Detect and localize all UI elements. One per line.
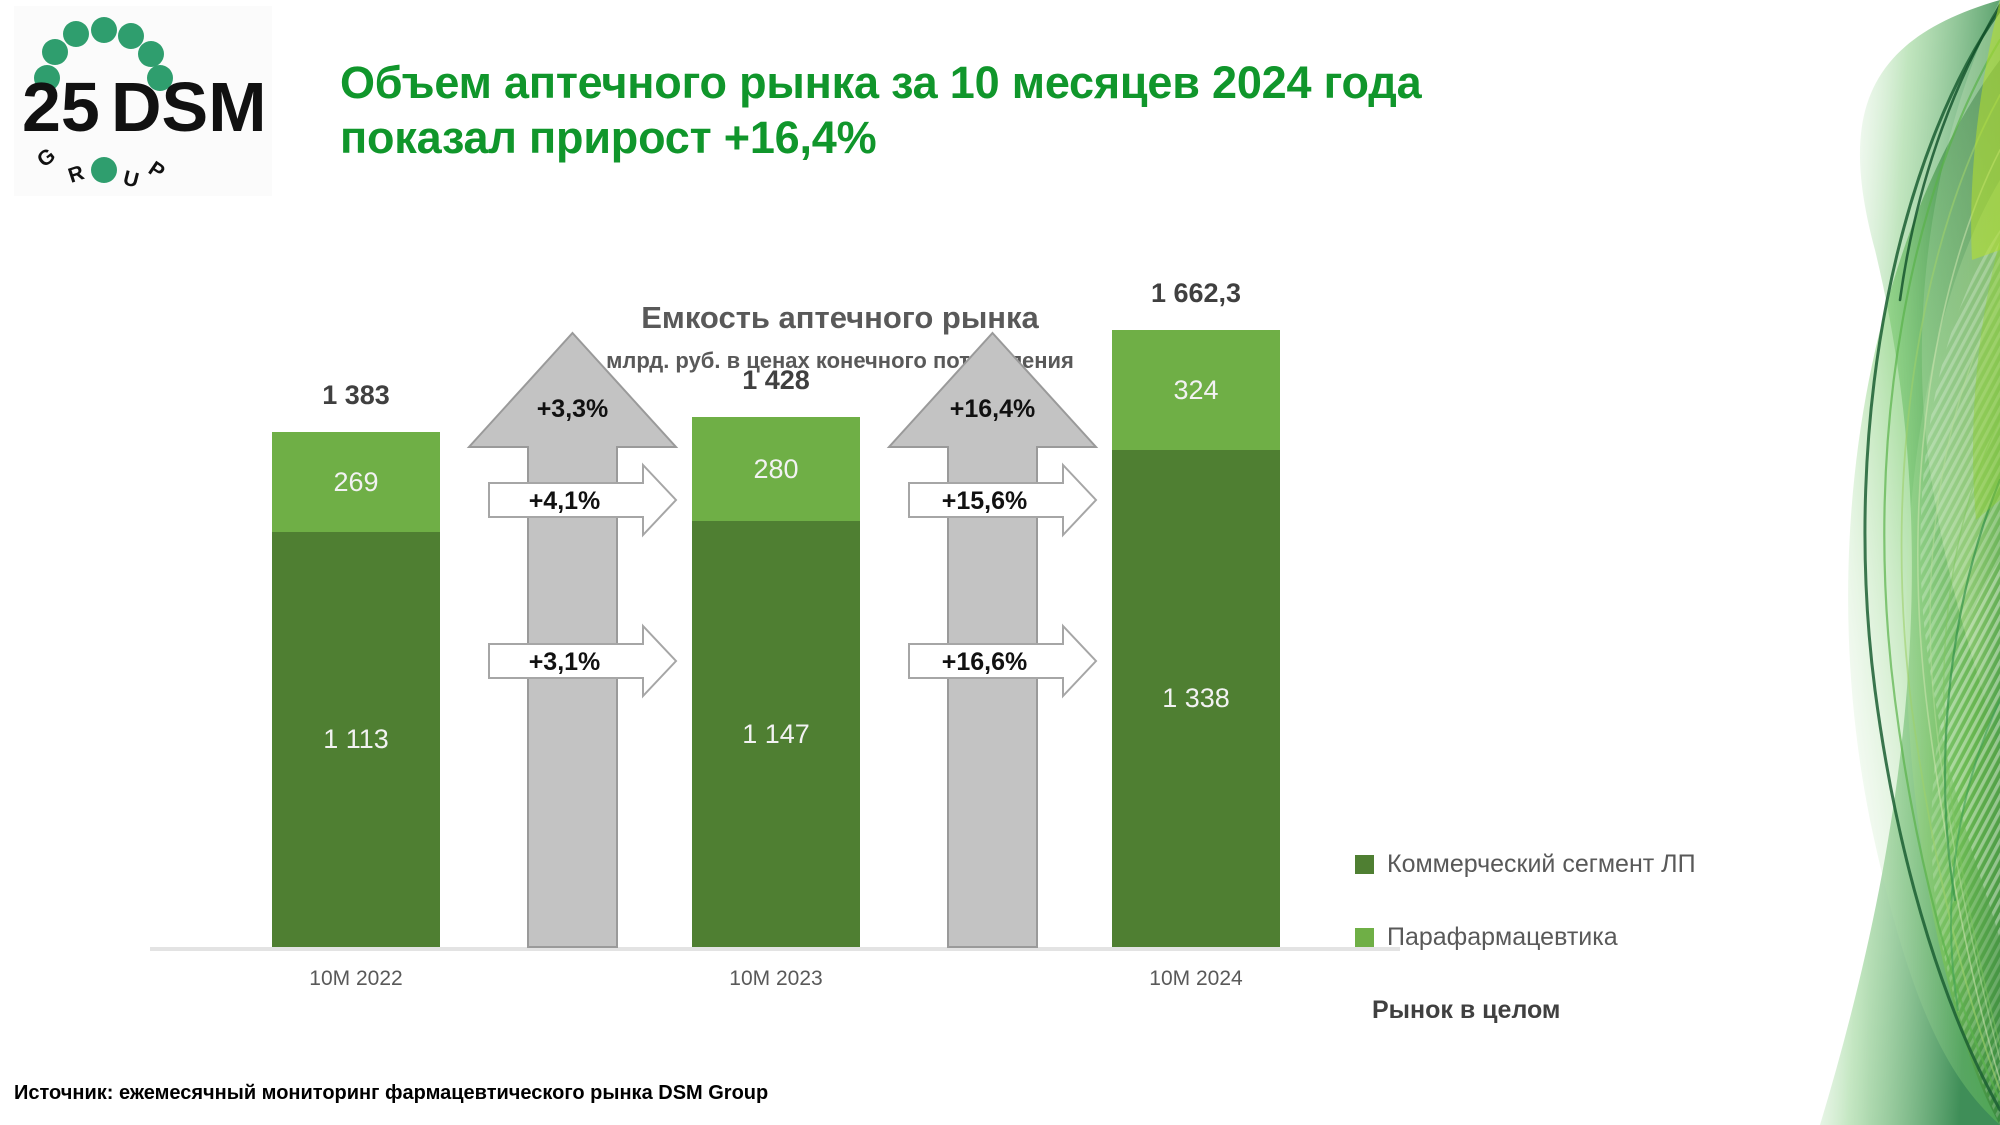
total-growth-label-2: +16,4% <box>885 395 1100 424</box>
logo-number: 25 <box>22 68 100 146</box>
headline-line-1: Объем аптечного рынка за 10 месяцев 2024… <box>340 56 1680 111</box>
legend-note-market-total: Рынок в целом <box>1372 996 1735 1025</box>
total-growth-label-1: +3,3% <box>465 395 680 424</box>
logo-word: DSM <box>111 68 267 146</box>
chart-container: Емкость аптечного рынка млрд. руб. в цен… <box>0 280 1760 1020</box>
bar-value-commercial-2022: 1 113 <box>323 724 389 755</box>
source-footnote: Источник: ежемесячный мониторинг фармаце… <box>14 1082 768 1105</box>
bar-value-para-2023: 280 <box>753 454 798 485</box>
bar-total-label-2023: 1 428 <box>692 365 860 396</box>
bar-value-para-2022: 269 <box>333 467 378 498</box>
slide-headline: Объем аптечного рынка за 10 месяцев 2024… <box>340 56 1680 166</box>
legend-item-para[interactable]: Парафармацевтика <box>1355 923 1735 952</box>
bar-segment-para-2022[interactable]: 269 <box>272 432 440 532</box>
legend-swatch-para <box>1355 928 1374 947</box>
bar-segment-para-2023[interactable]: 280 <box>692 417 860 521</box>
para-growth-label-1: +4,1% <box>457 487 672 516</box>
logo-svg: 25 DSM G R U P <box>14 6 272 196</box>
bar-value-para-2024: 324 <box>1173 375 1218 406</box>
legend-label-para: Парафармацевтика <box>1387 923 1618 952</box>
x-axis-label-2023: 10М 2023 <box>692 967 860 991</box>
growth-arrow-group-2022-2023: +3,3% +4,1% +3,1% <box>465 329 680 951</box>
legend-swatch-commercial <box>1355 855 1374 874</box>
slide-canvas: 25 DSM G R U P Объем аптечного рынка за … <box>0 0 2000 1125</box>
growth-arrow-group-2023-2024: +16,4% +15,6% +16,6% <box>885 329 1100 951</box>
bar-value-commercial-2023: 1 147 <box>742 719 810 750</box>
bar-total-label-2022: 1 383 <box>272 380 440 411</box>
chart-legend: Коммерческий сегмент ЛП Парафармацевтика… <box>1355 850 1735 1025</box>
bar-segment-commercial-2024[interactable]: 1 338 <box>1112 450 1280 947</box>
x-axis-line <box>150 947 1400 951</box>
bar-stack-10m-2023[interactable]: 1 428 280 1 147 10М 2023 <box>692 417 860 947</box>
dsm-group-logo: 25 DSM G R U P <box>14 6 272 196</box>
bar-segment-commercial-2023[interactable]: 1 147 <box>692 521 860 947</box>
para-growth-label-2: +15,6% <box>877 487 1092 516</box>
bar-stack-10m-2024[interactable]: 1 662,3 324 1 338 10М 2024 <box>1112 330 1280 947</box>
legend-label-commercial: Коммерческий сегмент ЛП <box>1387 850 1696 879</box>
commercial-growth-label-2: +16,6% <box>877 648 1092 677</box>
bar-total-label-2024: 1 662,3 <box>1112 278 1280 309</box>
bar-segment-para-2024[interactable]: 324 <box>1112 330 1280 450</box>
legend-item-commercial[interactable]: Коммерческий сегмент ЛП <box>1355 850 1735 879</box>
bar-stack-10m-2022[interactable]: 1 383 269 1 113 10М 2022 <box>272 432 440 947</box>
commercial-growth-label-1: +3,1% <box>457 648 672 677</box>
x-axis-label-2024: 10М 2024 <box>1112 967 1280 991</box>
bar-segment-commercial-2022[interactable]: 1 113 <box>272 532 440 947</box>
headline-line-2: показал прирост +16,4% <box>340 111 1680 166</box>
x-axis-label-2022: 10М 2022 <box>272 967 440 991</box>
bar-value-commercial-2024: 1 338 <box>1162 683 1230 714</box>
